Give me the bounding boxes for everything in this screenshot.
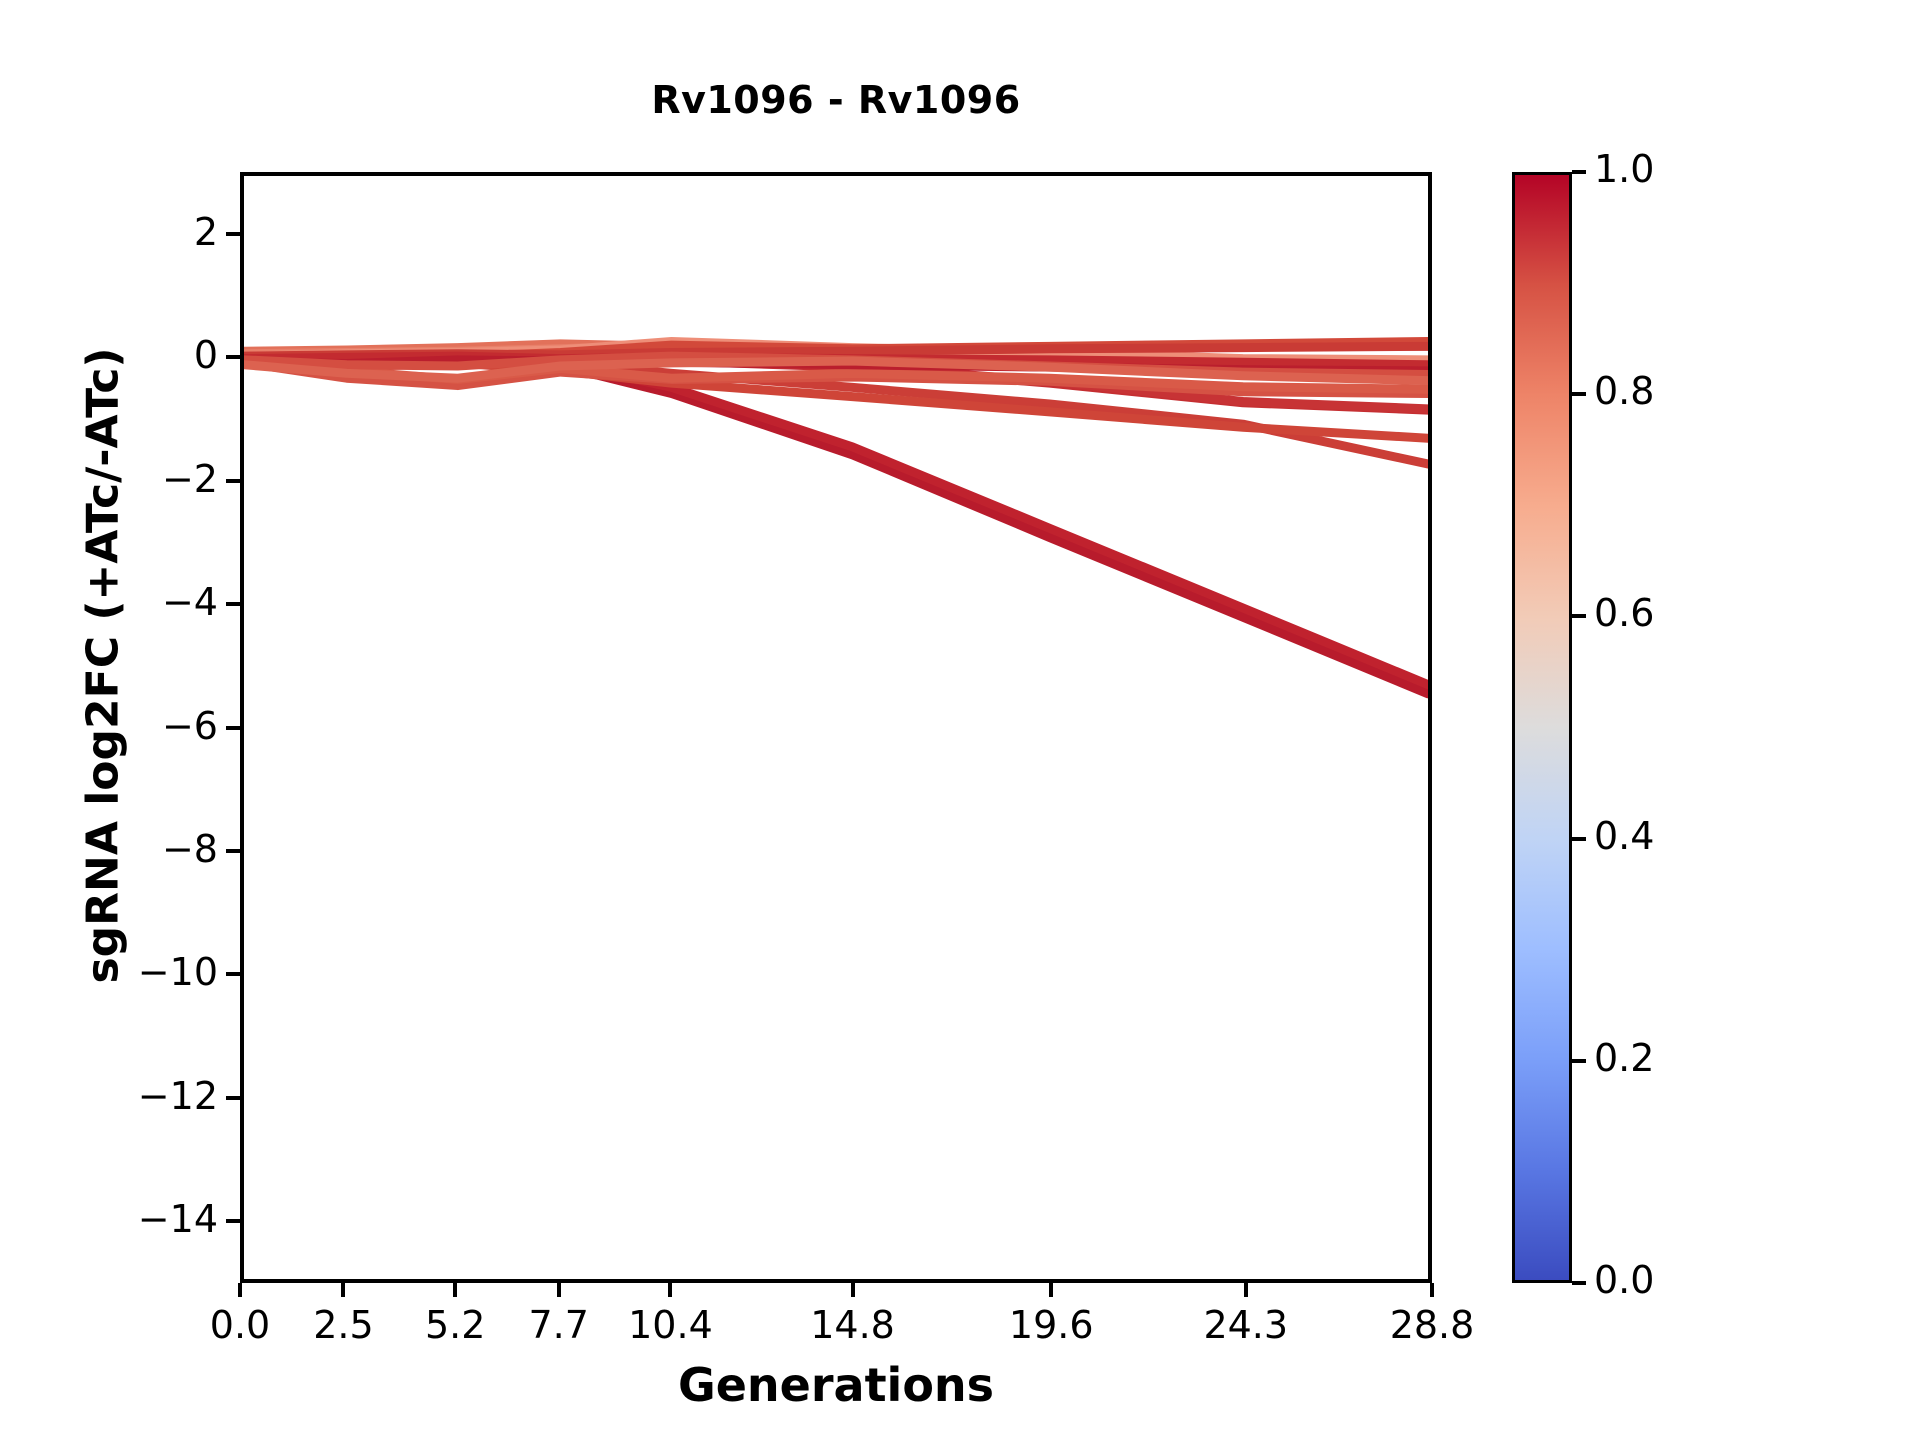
y-tick-label: −8 <box>162 827 218 871</box>
x-tick-mark <box>668 1283 672 1297</box>
y-tick-mark <box>226 355 240 359</box>
y-tick-label: −2 <box>162 457 218 501</box>
colorbar-tick-mark <box>1572 614 1586 618</box>
x-tick-label: 10.4 <box>628 1303 713 1347</box>
y-tick-mark <box>226 726 240 730</box>
y-tick-mark <box>226 1096 240 1100</box>
colorbar-tick-mark <box>1572 392 1586 396</box>
x-tick-label: 19.6 <box>1009 1303 1094 1347</box>
colorbar-tick-mark <box>1572 1281 1586 1285</box>
x-tick-mark <box>557 1283 561 1297</box>
colorbar-tick-mark <box>1572 170 1586 174</box>
y-tick-mark <box>226 972 240 976</box>
colorbar-tick-mark <box>1572 837 1586 841</box>
colorbar-tick-label: 0.4 <box>1594 814 1654 858</box>
y-tick-label: −12 <box>138 1074 218 1118</box>
y-tick-mark <box>226 602 240 606</box>
colorbar-tick-label: 0.2 <box>1594 1036 1654 1080</box>
colorbar-tick-label: 0.0 <box>1594 1258 1654 1302</box>
x-tick-label: 7.7 <box>528 1303 588 1347</box>
x-tick-mark <box>1049 1283 1053 1297</box>
x-tick-mark <box>453 1283 457 1297</box>
x-tick-mark <box>1244 1283 1248 1297</box>
y-tick-label: −14 <box>138 1197 218 1241</box>
figure-canvas: Rv1096 - Rv1096 20−2−4−6−8−10−12−14 sgRN… <box>0 0 1920 1440</box>
y-tick-mark <box>226 849 240 853</box>
line-series-svg <box>244 176 1428 1279</box>
y-tick-mark <box>226 232 240 236</box>
x-tick-mark <box>238 1283 242 1297</box>
y-tick-label: 0 <box>194 333 218 377</box>
y-tick-label: −4 <box>162 580 218 624</box>
x-tick-label: 14.8 <box>810 1303 895 1347</box>
plot-area <box>240 172 1432 1283</box>
colorbar: 0.00.20.40.60.81.0 <box>1512 172 1572 1283</box>
colorbar-tick-label: 0.6 <box>1594 591 1654 635</box>
x-tick-label: 5.2 <box>425 1303 485 1347</box>
y-tick-mark <box>226 479 240 483</box>
x-tick-label: 24.3 <box>1203 1303 1288 1347</box>
page-title: Rv1096 - Rv1096 <box>240 78 1432 122</box>
colorbar-tick-mark <box>1572 1059 1586 1063</box>
x-tick-label: 28.8 <box>1390 1303 1475 1347</box>
colorbar-gradient <box>1512 172 1572 1283</box>
y-tick-label: −6 <box>162 704 218 748</box>
x-tick-mark <box>341 1283 345 1297</box>
x-tick-mark <box>1430 1283 1434 1297</box>
colorbar-tick-label: 0.8 <box>1594 369 1654 413</box>
y-tick-label: 2 <box>194 210 218 254</box>
y-tick-mark <box>226 1219 240 1223</box>
y-axis-label: sgRNA log2FC (+ATc/-ATc) <box>78 166 129 1166</box>
x-tick-label: 2.5 <box>313 1303 373 1347</box>
colorbar-tick-label: 1.0 <box>1594 147 1654 191</box>
y-tick-label: −10 <box>138 950 218 994</box>
x-tick-label: 0.0 <box>210 1303 270 1347</box>
x-tick-mark <box>851 1283 855 1297</box>
x-axis-label: Generations <box>240 1358 1432 1412</box>
